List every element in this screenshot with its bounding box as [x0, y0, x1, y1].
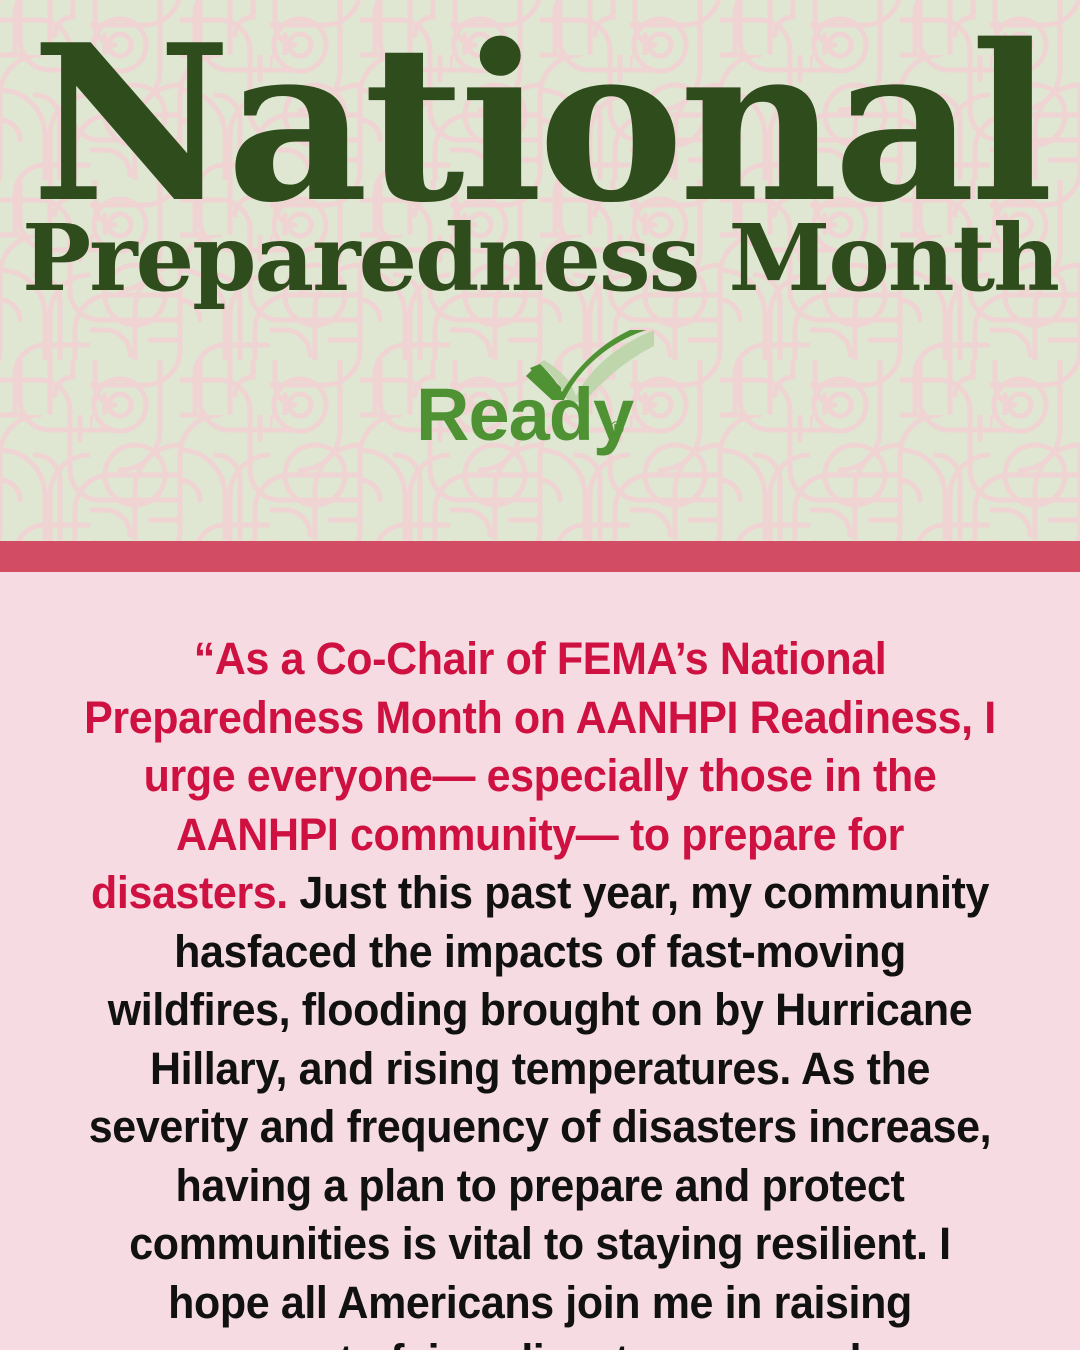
hero-section: National Preparedness Month Ready ®: [0, 0, 1080, 541]
divider-band: [0, 541, 1080, 572]
quote-body-text: Just this past year, my community hasfac…: [89, 867, 991, 1350]
registered-trademark-icon: ®: [610, 420, 624, 439]
poster-root: National Preparedness Month Ready ® “As …: [0, 0, 1080, 1350]
page-title-primary: National: [31, 22, 1048, 226]
quote-text: “As a Co-Chair of FEMA’s National Prepar…: [84, 630, 997, 1350]
ready-wordmark: Ready: [416, 378, 633, 452]
hero-content: National Preparedness Month Ready ®: [0, 0, 1080, 541]
quote-section: “As a Co-Chair of FEMA’s National Prepar…: [0, 572, 1080, 1350]
ready-logo: Ready ®: [410, 330, 670, 460]
